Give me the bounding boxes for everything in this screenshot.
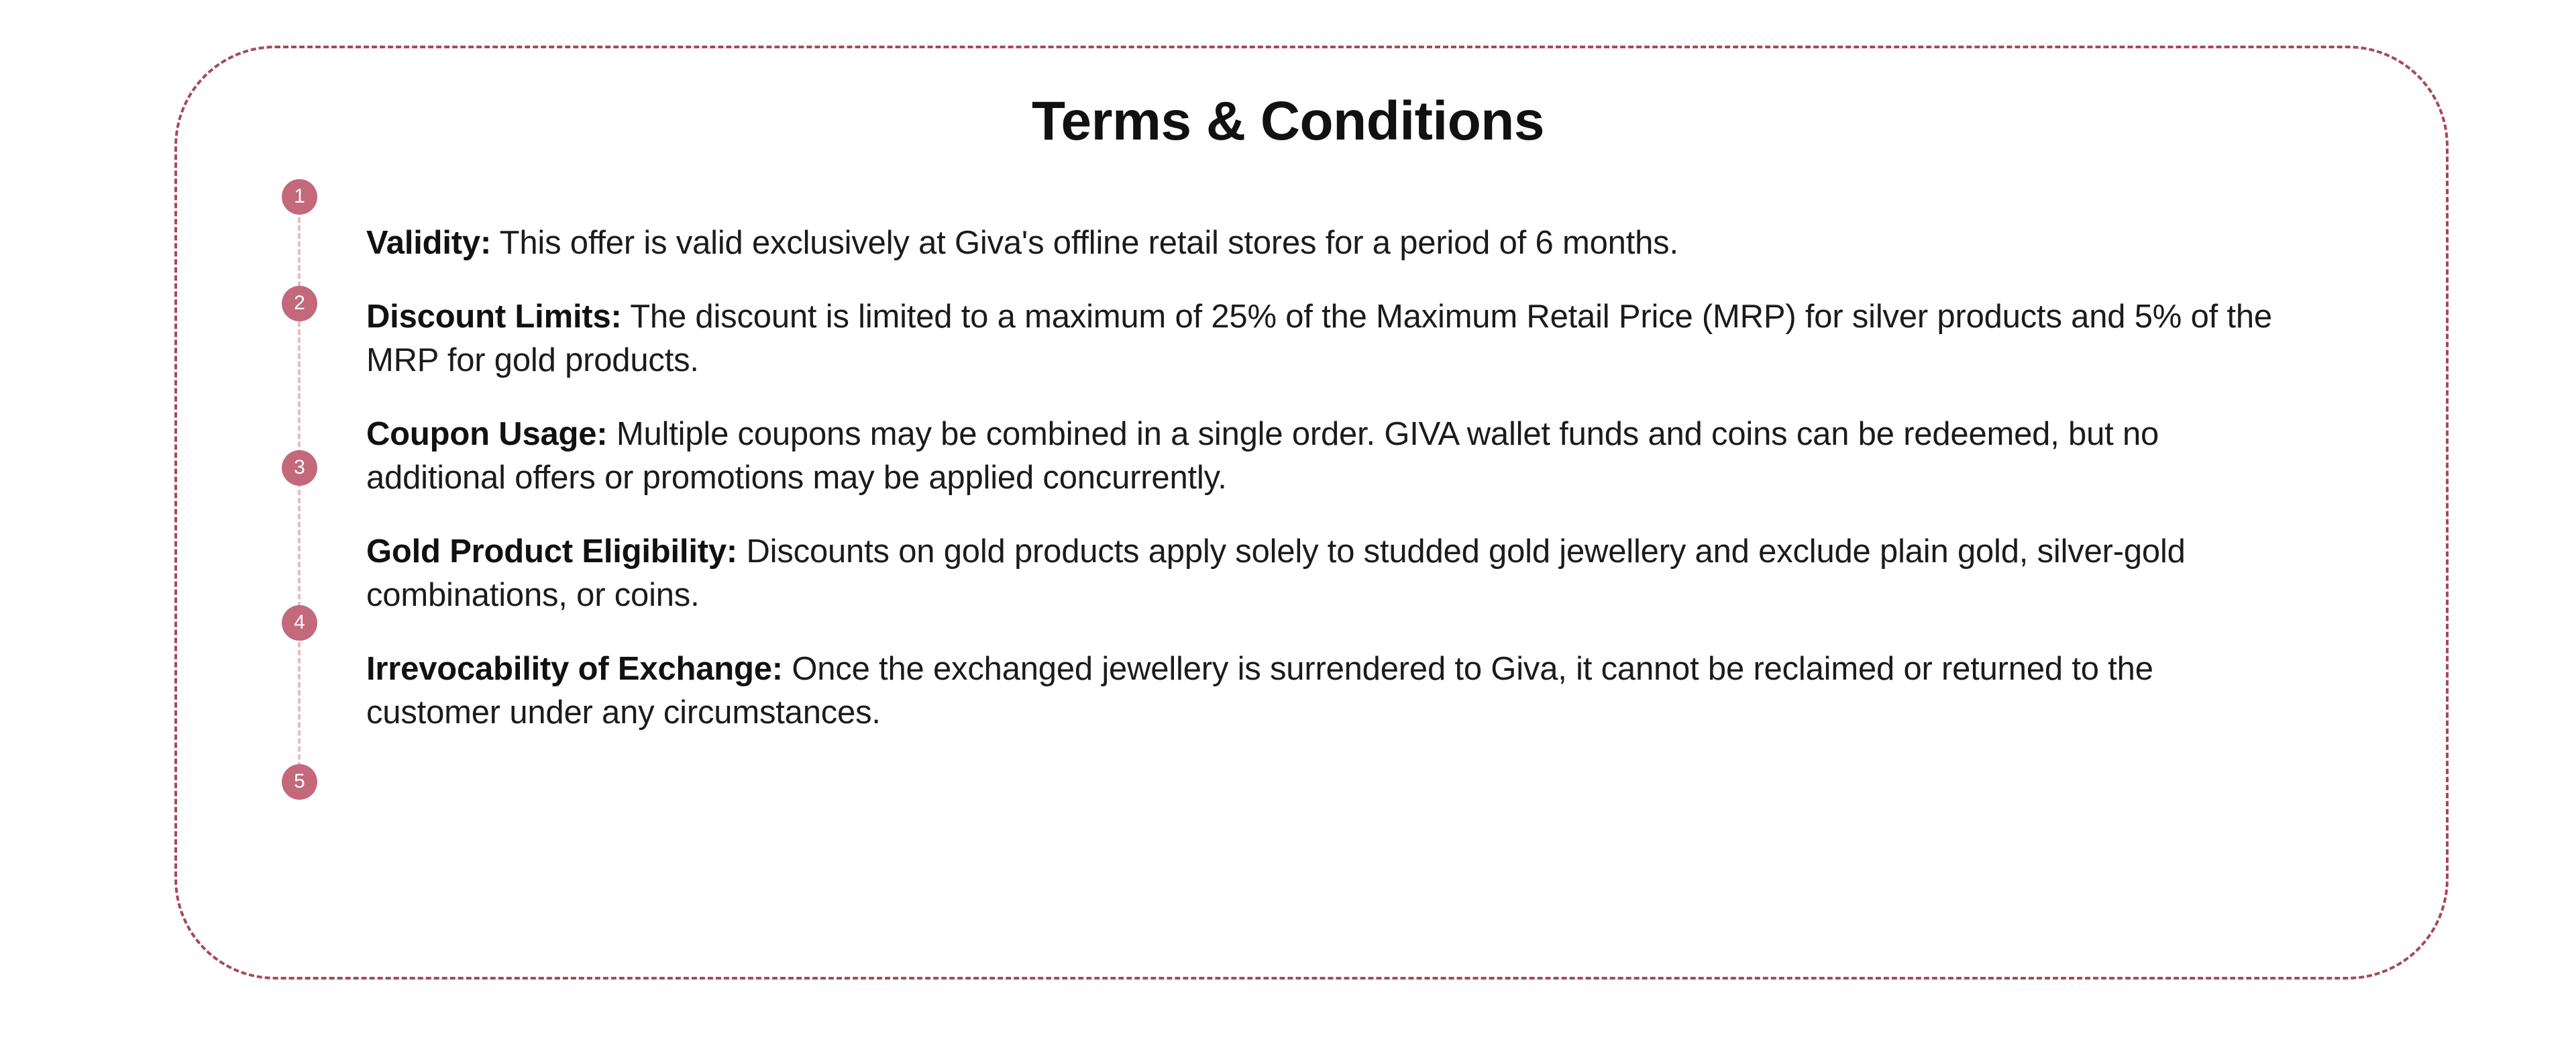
timeline-marker-2-number: 2 [294,293,305,313]
term-heading: Irrevocability of Exchange: [366,651,783,687]
timeline-marker-1-number: 1 [294,187,305,207]
timeline-marker-3-number: 3 [294,458,305,478]
timeline-marker-2: 2 [282,286,317,321]
timeline-marker-4-number: 4 [294,613,305,633]
term-body: The discount is limited to a maximum of … [366,299,2272,378]
page-title: Terms & Conditions [0,94,2576,149]
term-item: Discount Limits: The discount is limited… [366,295,2292,382]
term-heading: Validity: [366,225,491,261]
term-body: Multiple coupons may be combined in a si… [366,416,2159,496]
timeline-marker-4: 4 [282,605,317,641]
term-body: This offer is valid exclusively at Giva'… [500,225,1678,261]
term-heading: Gold Product Eligibility: [366,533,737,570]
term-item: Validity: This offer is valid exclusivel… [366,221,2292,265]
timeline-marker-1: 1 [282,179,317,215]
terms-and-conditions-card: Terms & Conditions 1 2 3 4 5 Validity: T… [0,0,2576,1056]
term-item: Irrevocability of Exchange: Once the exc… [366,647,2292,735]
term-heading: Coupon Usage: [366,416,607,452]
term-heading: Discount Limits: [366,299,622,335]
term-item: Gold Product Eligibility: Discounts on g… [366,530,2292,617]
terms-list: Validity: This offer is valid exclusivel… [366,221,2292,735]
timeline-marker-3: 3 [282,450,317,486]
timeline-marker-5: 5 [282,764,317,800]
timeline-marker-5-number: 5 [294,772,305,792]
term-item: Coupon Usage: Multiple coupons may be co… [366,413,2292,500]
